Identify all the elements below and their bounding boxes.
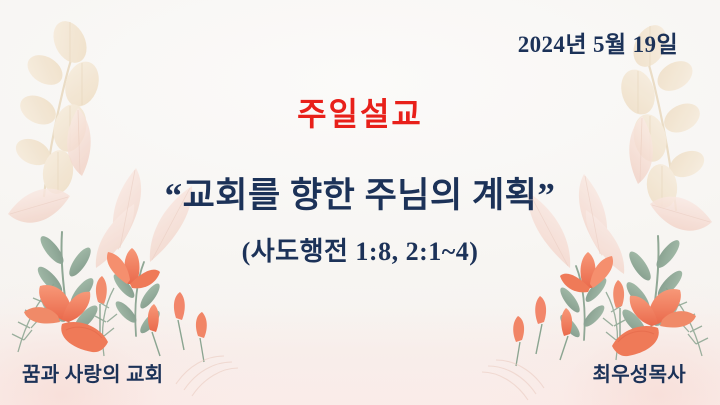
- preacher-name: 최우성목사: [593, 358, 687, 387]
- church-name: 꿈과 사랑의 교회: [22, 358, 164, 387]
- sermon-date: 2024년 5월 19일: [518, 25, 678, 59]
- scripture-reference: (사도행전 1:8, 2:1~4): [0, 238, 720, 267]
- sermon-title: “교회를 향한 주님의 계획”: [0, 177, 720, 216]
- sermon-kicker: 주일설교: [0, 98, 720, 130]
- sermon-slide: 2024년 5월 19일 주일설교 “교회를 향한 주님의 계획” (사도행전 …: [0, 0, 720, 405]
- sermon-text-block: 주일설교 “교회를 향한 주님의 계획” (사도행전 1:8, 2:1~4): [0, 98, 720, 266]
